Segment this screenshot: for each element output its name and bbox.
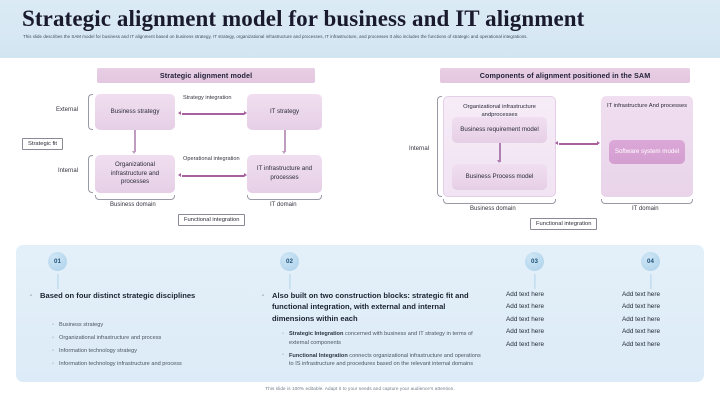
strategy-integration-text: Strategy integration: [183, 95, 232, 101]
list-item: Functional Integration connects organiza…: [282, 352, 487, 369]
list-item: Add text here: [622, 289, 660, 301]
list-item: Add text here: [622, 339, 660, 351]
box-software-system-model: Software system model: [609, 140, 685, 164]
list-item: Add text here: [506, 301, 544, 313]
left-panel-title: Strategic alignment model: [97, 68, 315, 83]
left-functional-integration-tag: Functional integration: [178, 214, 245, 226]
list-item: Organizational infrastructure and proces…: [52, 334, 257, 343]
badge-03: 03: [525, 252, 544, 271]
right-panel-title: Components of alignment positioned in th…: [440, 68, 690, 83]
strategy-integration-arrow-left: [178, 111, 181, 115]
right-business-domain-label: Business domain: [470, 206, 516, 212]
badge-03-stem: [534, 274, 535, 289]
sub-item-strong: Functional Integration: [289, 353, 348, 359]
badge-01-stem: [57, 274, 58, 289]
strategic-fit-tag: Strategic fit: [22, 138, 63, 150]
lead-text-02: Also built on two construction blocks: s…: [272, 290, 487, 324]
list-item: Add text here: [506, 326, 544, 338]
right-horizontal-arrow-left: [555, 141, 558, 145]
list-item: Strategic Integration concerned with bus…: [282, 330, 487, 347]
sublist-01: Business strategy Organizational infrast…: [52, 321, 257, 374]
sub-item-strong: Strategic Integration: [289, 331, 343, 337]
bottom-column-03: 03 Add text here Add text here Add text …: [496, 245, 596, 382]
lead-bullet-01: ◦: [30, 293, 32, 299]
sub-item-text: Information technology strategy: [59, 348, 137, 354]
left-axis-internal-label: Internal: [58, 168, 78, 174]
badge-04-wrap: 04: [641, 252, 660, 271]
left-brace-it-domain: [247, 195, 322, 200]
badge-02-wrap: 02: [280, 252, 299, 271]
simple-list-03: Add text here Add text here Add text her…: [506, 289, 544, 351]
right-brace-it-domain: [601, 199, 693, 204]
badge-04: 04: [641, 252, 660, 271]
bottom-card: 01 ◦ Based on four distinct strategic di…: [16, 245, 704, 382]
badge-01-wrap: 01: [48, 252, 67, 271]
right-axis-internal-label: Internal: [409, 146, 429, 152]
left-brace-external: [88, 94, 93, 130]
it-vertical-connector: [284, 130, 286, 152]
it-vertical-arrow: [282, 151, 286, 154]
strategy-integration-label: Strategy integration: [183, 95, 232, 103]
lead-bullet-02: ◦: [262, 293, 264, 299]
page-title: Strategic alignment model for business a…: [22, 6, 584, 32]
list-item: Information technology infrastructure an…: [52, 360, 257, 369]
list-item: Add text here: [506, 339, 544, 351]
right-vertical-arrow: [497, 160, 501, 163]
right-functional-integration-tag: Functional integration: [530, 218, 597, 230]
list-item: Business strategy: [52, 321, 257, 330]
business-vertical-arrow: [132, 151, 136, 154]
box-org-infrastructure: Organizational infrastructure and proces…: [95, 155, 175, 193]
badge-02-stem: [289, 274, 290, 289]
sub-item-text: Information technology infrastructure an…: [59, 361, 182, 367]
right-brace-internal: [437, 96, 442, 197]
strategy-integration-arrow-right: [244, 111, 247, 115]
right-brace-business-domain: [443, 199, 556, 204]
list-item: Add text here: [506, 289, 544, 301]
operational-integration-connector: [182, 175, 244, 177]
lead-text-01: Based on four distinct strategic discipl…: [40, 290, 200, 301]
bottom-column-04: 04 Add text here Add text here Add text …: [612, 245, 712, 382]
box-it-infrastructure: IT infrastructure and processes: [247, 155, 322, 193]
right-horizontal-connector: [559, 143, 598, 145]
left-brace-business-domain: [95, 195, 175, 200]
badge-02: 02: [280, 252, 299, 271]
sublist-02: Strategic Integration concerned with bus…: [282, 330, 487, 374]
bottom-column-01: 01 ◦ Based on four distinct strategic di…: [30, 245, 260, 382]
box-right-it-infrastructure-label: IT infrastructure And processes: [603, 98, 691, 110]
sub-item-text: Organizational infrastructure and proces…: [59, 335, 161, 341]
operational-integration-arrow-left: [178, 173, 181, 177]
badge-03-wrap: 03: [525, 252, 544, 271]
left-axis-external-label: External: [56, 107, 78, 113]
badge-01: 01: [48, 252, 67, 271]
operational-integration-label: Operational integration: [183, 156, 240, 164]
operational-integration-text: Operational integration: [183, 156, 240, 162]
list-item: Add text here: [622, 314, 660, 326]
list-item: Add text here: [622, 301, 660, 313]
right-horizontal-arrow-right: [597, 141, 600, 145]
left-brace-internal: [88, 155, 93, 193]
right-it-domain-label: IT domain: [632, 206, 659, 212]
page-subtitle: This slide describes the SAM model for b…: [23, 33, 653, 41]
simple-list-04: Add text here Add text here Add text her…: [622, 289, 660, 351]
box-business-strategy: Business strategy: [95, 94, 175, 130]
box-it-strategy: IT strategy: [247, 94, 322, 130]
footer-note: This slide is 100% editable. Adapt it to…: [0, 386, 720, 391]
box-business-requirement-model: Business requirement model: [452, 117, 547, 143]
sub-item-text: Business strategy: [59, 322, 103, 328]
strategy-integration-connector: [182, 113, 244, 115]
left-business-domain-label: Business domain: [110, 202, 156, 208]
badge-04-stem: [650, 274, 651, 289]
operational-integration-arrow-right: [244, 173, 247, 177]
bottom-column-02: 02 ◦ Also built on two construction bloc…: [262, 245, 487, 382]
list-item: Add text here: [622, 326, 660, 338]
left-it-domain-label: IT domain: [270, 202, 297, 208]
business-vertical-connector: [134, 130, 136, 152]
box-business-process-model: Business Process model: [452, 164, 547, 190]
list-item: Information technology strategy: [52, 347, 257, 356]
list-item: Add text here: [506, 314, 544, 326]
